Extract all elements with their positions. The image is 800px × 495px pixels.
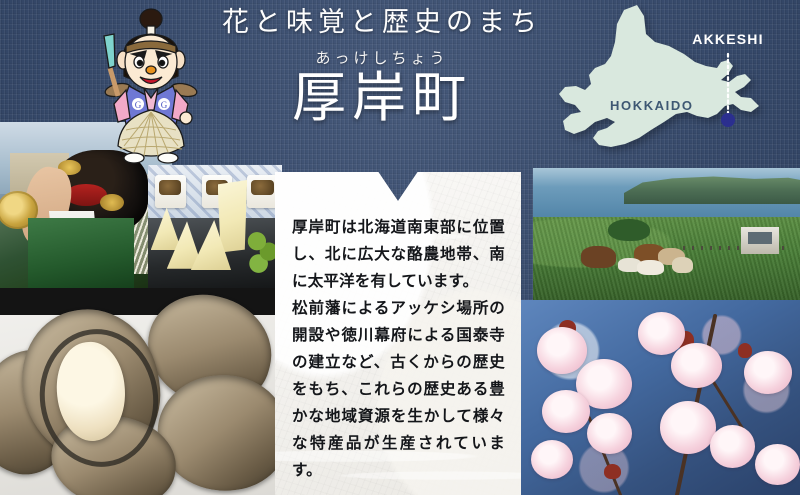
hokkaido-map: HOKKAIDO AKKESHI [545,2,795,167]
description-paragraph-2: 松前藩によるアッケシ場所の開設や徳川幕府による国泰寺の建立など、古くからの歴史を… [292,295,505,484]
akkeshi-mascot-character: G G [96,6,204,166]
map-label-hokkaido: HOKKAIDO [610,98,694,113]
description-paragraph-1: 厚岸町は北海道南東部に位置し、北に広大な酪農地帯、南に太平洋を有しています。 [292,214,505,295]
akkeshi-marker-dot [721,113,735,127]
map-label-akkeshi: AKKESHI [692,31,763,47]
description-panel: 厚岸町は北海道南東部に位置し、北に広大な酪農地帯、南に太平洋を有しています。 松… [275,172,521,495]
svg-text:G: G [135,100,142,110]
description-text: 厚岸町は北海道南東部に位置し、北に広大な酪農地帯、南に太平洋を有しています。 松… [275,172,521,484]
photo-cherry-blossoms [520,300,800,495]
photo-oysters [0,288,283,495]
svg-text:G: G [161,100,168,110]
photo-horses-pasture [533,168,800,303]
poster: HOKKAIDO AKKESHI [0,0,800,495]
photo-cheese-wedges [148,165,282,290]
